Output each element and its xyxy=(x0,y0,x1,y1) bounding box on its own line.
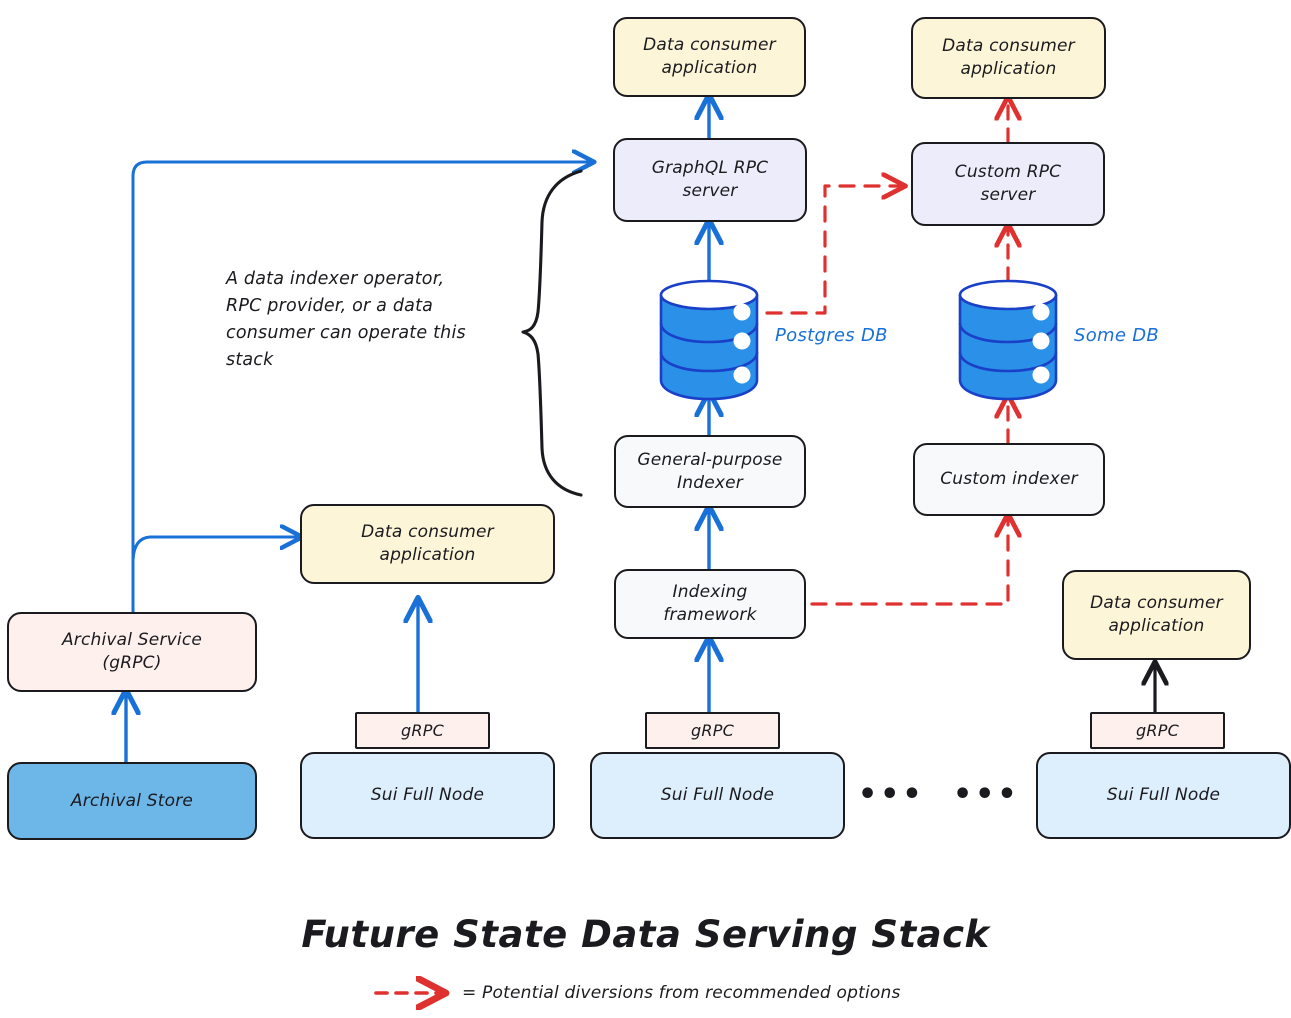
node-full-node-1[interactable]: Sui Full Node xyxy=(300,752,555,839)
node-label: gRPC xyxy=(691,720,734,741)
ellipsis-right: ••• xyxy=(953,780,1020,810)
stack-operator-annotation: A data indexer operator, RPC provider, o… xyxy=(226,266,501,375)
node-label: Data consumer xyxy=(1090,592,1223,615)
node-grpc-1[interactable]: gRPC xyxy=(355,712,490,749)
node-custom-rpc-server[interactable]: Custom RPC server xyxy=(911,142,1105,226)
node-label: Custom indexer xyxy=(940,468,1078,491)
node-label: application xyxy=(361,544,494,567)
ellipsis-left: ••• xyxy=(858,780,925,810)
node-label: gRPC xyxy=(401,720,444,741)
node-label: server xyxy=(955,184,1061,207)
node-label: Custom RPC xyxy=(955,161,1061,184)
node-label: (gRPC) xyxy=(62,652,202,675)
db-postgres-icon xyxy=(661,281,757,399)
page-title: Future State Data Serving Stack xyxy=(0,913,1291,956)
db-some-icon xyxy=(960,281,1056,399)
annotation-line: RPC provider, or a data xyxy=(226,293,501,320)
legend-label: = Potential diversions from recommended … xyxy=(462,983,901,1003)
node-label: application xyxy=(942,58,1075,81)
node-label: Data consumer xyxy=(942,35,1075,58)
node-graphql-rpc-server[interactable]: GraphQL RPC server xyxy=(613,138,807,222)
node-archival-store[interactable]: Archival Store xyxy=(7,762,257,840)
node-consumer-custom[interactable]: Data consumer application xyxy=(911,17,1106,99)
node-label: Indexer xyxy=(637,472,782,495)
node-label: General-purpose xyxy=(637,449,782,472)
node-label: application xyxy=(643,57,776,80)
node-label: Sui Full Node xyxy=(371,784,484,807)
node-label: Sui Full Node xyxy=(1107,784,1220,807)
db-label-postgres: Postgres DB xyxy=(775,325,888,346)
node-label: Data consumer xyxy=(643,34,776,57)
node-label: framework xyxy=(663,604,756,627)
node-grpc-2[interactable]: gRPC xyxy=(645,712,780,749)
node-consumer-right[interactable]: Data consumer application xyxy=(1062,570,1251,660)
node-grpc-3[interactable]: gRPC xyxy=(1090,712,1225,749)
annotation-line: stack xyxy=(226,347,501,374)
node-indexing-framework[interactable]: Indexing framework xyxy=(614,569,806,639)
node-archival-service[interactable]: Archival Service (gRPC) xyxy=(7,612,257,692)
node-label: gRPC xyxy=(1136,720,1179,741)
node-consumer-archival[interactable]: Data consumer application xyxy=(300,504,555,584)
diagram-canvas: Data consumer application Data consumer … xyxy=(0,0,1291,1018)
node-label: Sui Full Node xyxy=(661,784,774,807)
edge-archival-service-to-consumer xyxy=(133,537,300,560)
node-label: Archival Service xyxy=(62,629,202,652)
annotation-line: consumer can operate this xyxy=(226,320,501,347)
node-label: GraphQL RPC xyxy=(652,157,769,180)
node-custom-indexer[interactable]: Custom indexer xyxy=(913,443,1105,516)
node-full-node-2[interactable]: Sui Full Node xyxy=(590,752,845,839)
annotation-line: A data indexer operator, xyxy=(226,266,501,293)
node-general-purpose-indexer[interactable]: General-purpose Indexer xyxy=(614,435,806,508)
node-label: Indexing xyxy=(663,581,756,604)
stack-scope-brace xyxy=(523,171,581,495)
node-label: Archival Store xyxy=(71,790,193,813)
node-label: server xyxy=(652,180,769,203)
node-label: Data consumer xyxy=(361,521,494,544)
node-consumer-graphql[interactable]: Data consumer application xyxy=(613,17,806,97)
node-label: application xyxy=(1090,615,1223,638)
node-full-node-3[interactable]: Sui Full Node xyxy=(1036,752,1291,839)
edge-indexing-framework-to-custom-indexer xyxy=(812,516,1008,604)
db-label-some: Some DB xyxy=(1074,325,1159,346)
